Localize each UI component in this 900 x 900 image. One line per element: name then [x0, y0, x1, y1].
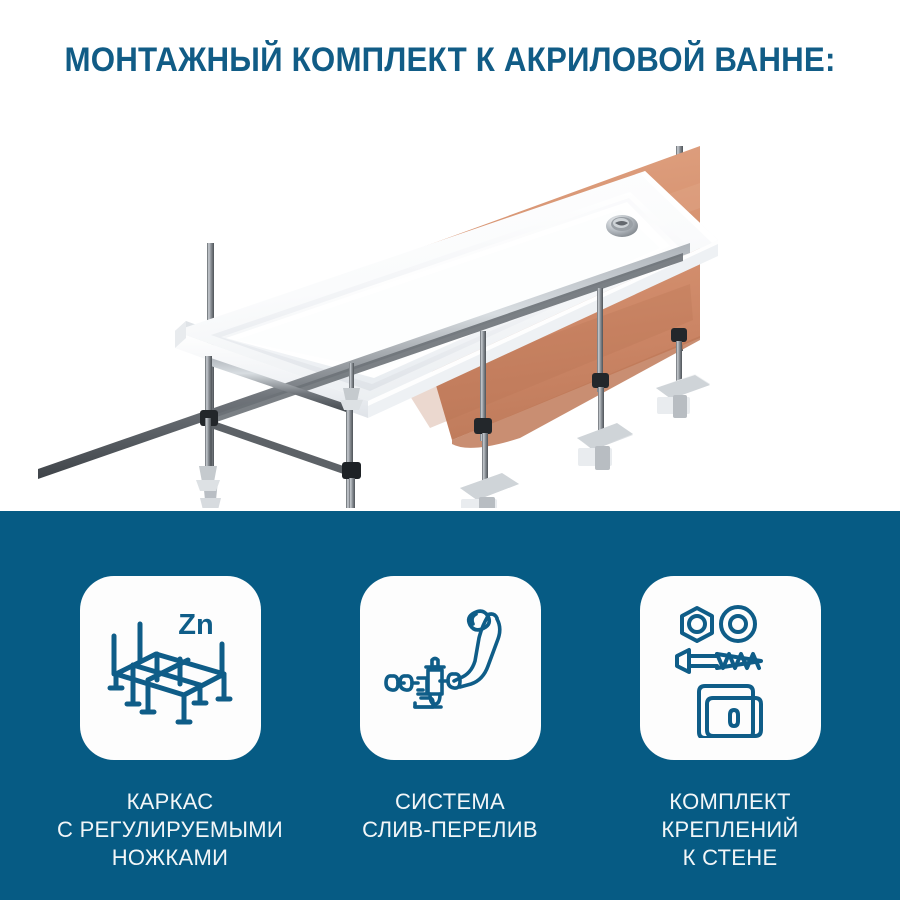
overflow-cap-icon: [606, 215, 638, 237]
bathtub-illustration: [0, 88, 900, 508]
feature-frame-caption: КАРКАС С РЕГУЛИРУЕМЫМИ НОЖКАМИ: [57, 788, 283, 872]
product-infographic-page: МОНТАЖНЫЙ КОМПЛЕКТ К АКРИЛОВОЙ ВАННЕ:: [0, 0, 900, 900]
features-blue-section: Zn КАРКАС С РЕГУЛИРУЕМЫМИ НОЖКАМИ: [0, 511, 900, 900]
feature-drain[interactable]: СИСТЕМА СЛИВ-ПЕРЕЛИВ: [322, 511, 578, 844]
adjustable-foot: [325, 478, 387, 508]
wall-mount-hardware-icon: [665, 598, 795, 738]
feature-frame-card[interactable]: Zn: [80, 576, 261, 760]
feature-frame[interactable]: Zn КАРКАС С РЕГУЛИРУЕМЫМИ НОЖКАМИ: [42, 511, 298, 872]
page-title: МОНТАЖНЫЙ КОМПЛЕКТ К АКРИЛОВОЙ ВАННЕ:: [36, 40, 864, 80]
feature-list: Zn КАРКАС С РЕГУЛИРУЕМЫМИ НОЖКАМИ: [0, 511, 900, 900]
drain-overflow-system-icon: [380, 598, 520, 738]
feature-drain-card[interactable]: [360, 576, 541, 760]
feature-wall-mounts-caption: КОМПЛЕКТ КРЕПЛЕНИЙ К СТЕНЕ: [661, 788, 798, 872]
top-white-section: МОНТАЖНЫЙ КОМПЛЕКТ К АКРИЛОВОЙ ВАННЕ:: [0, 0, 900, 511]
product-photo: [0, 88, 900, 508]
frame-with-adjustable-legs-icon: Zn: [100, 598, 240, 738]
feature-wall-mounts-card[interactable]: [640, 576, 821, 760]
zinc-badge-label: Zn: [178, 609, 213, 641]
feature-wall-mounts[interactable]: КОМПЛЕКТ КРЕПЛЕНИЙ К СТЕНЕ: [602, 511, 858, 872]
feature-drain-caption: СИСТЕМА СЛИВ-ПЕРЕЛИВ: [362, 788, 538, 844]
